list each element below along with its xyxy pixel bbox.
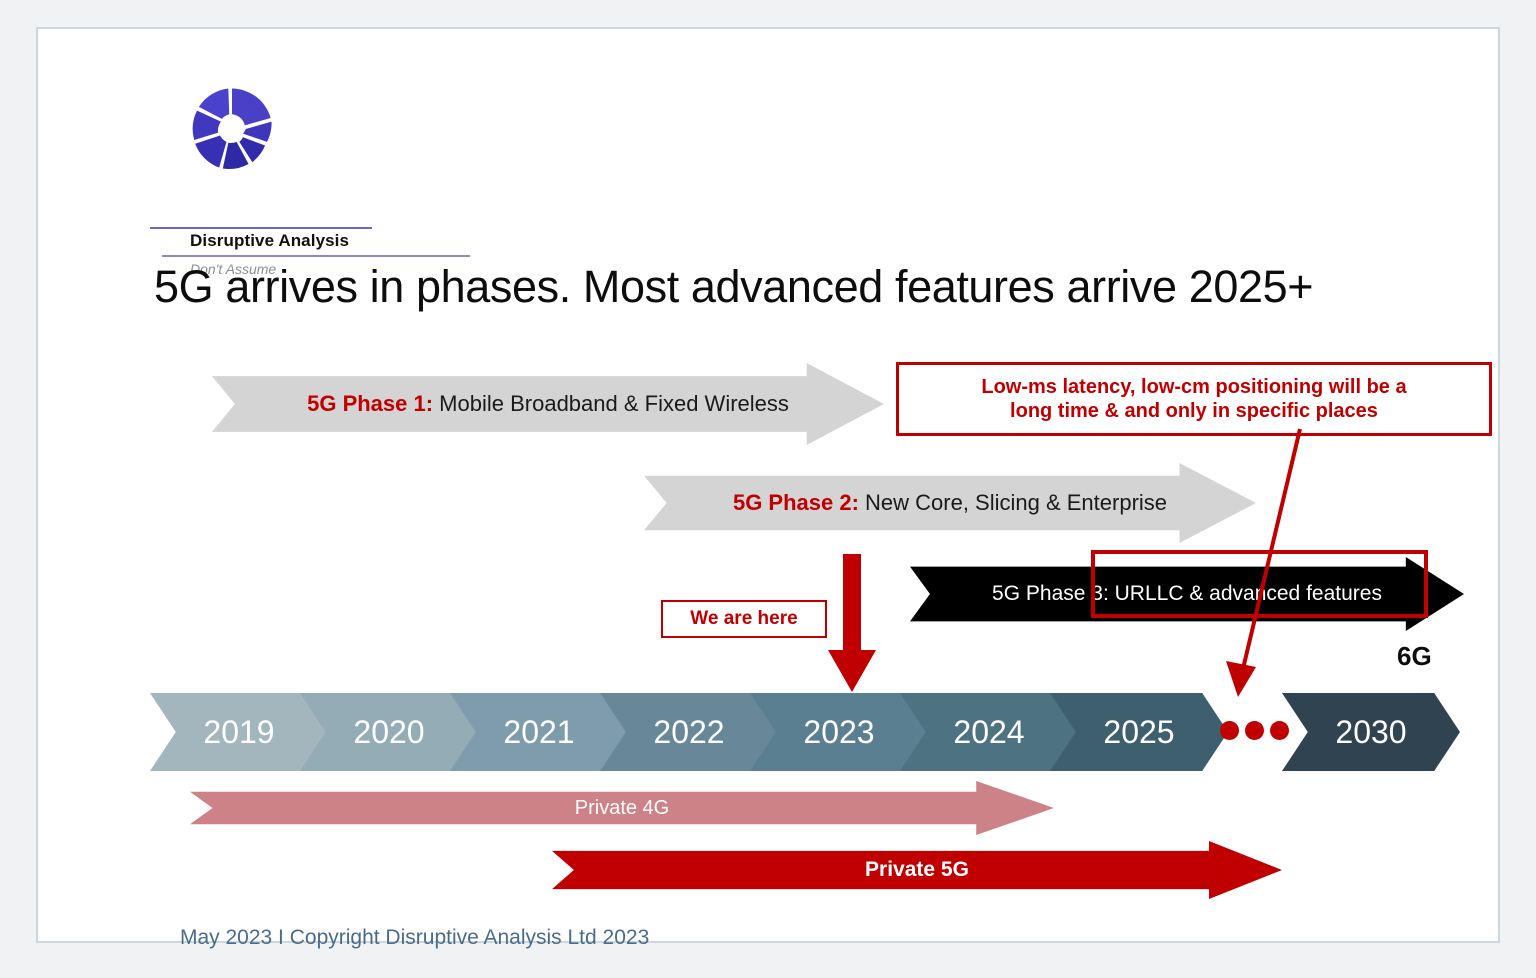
- phase-1-lead: 5G Phase 1:: [307, 391, 433, 416]
- segmented-donut-logo-icon: [186, 83, 278, 175]
- private-4g-arrow: Private 4G: [190, 781, 1054, 835]
- year-label: 2023: [803, 714, 874, 751]
- phase-2-lead: 5G Phase 2:: [733, 490, 859, 515]
- year-timeline: 2019 2020 2021 2022 2023 2024 2025 2030: [150, 693, 1460, 771]
- slide-frame: Disruptive Analysis Don't Assume 5G arri…: [36, 27, 1500, 943]
- phase-1-rest: Mobile Broadband & Fixed Wireless: [433, 391, 789, 416]
- year-label: 2025: [1103, 714, 1174, 751]
- logo-rule-bottom: [162, 255, 470, 257]
- year-label: 2019: [203, 714, 274, 751]
- timeline-year-2024: 2024: [900, 693, 1078, 771]
- brand-logo-block: Disruptive Analysis Don't Assume: [150, 83, 480, 243]
- slide-canvas: Disruptive Analysis Don't Assume 5G arri…: [0, 0, 1536, 978]
- phase-1-arrow: 5G Phase 1: Mobile Broadband & Fixed Wir…: [212, 363, 884, 445]
- callout-line-2: long time & and only in specific places: [981, 399, 1406, 423]
- ellipsis-dot: [1270, 721, 1289, 740]
- year-label: 2021: [503, 714, 574, 751]
- year-label: 2024: [953, 714, 1024, 751]
- timeline-ellipsis: [1220, 721, 1289, 740]
- timeline-year-2019: 2019: [150, 693, 328, 771]
- callout-pointer-arrow-icon: [1178, 425, 1358, 705]
- sixg-label: 6G: [1397, 641, 1432, 672]
- logo-rule-top: [150, 227, 372, 229]
- footer-copyright: May 2023 I Copyright Disruptive Analysis…: [180, 926, 649, 950]
- timeline-year-2023: 2023: [750, 693, 928, 771]
- ellipsis-dot: [1245, 721, 1264, 740]
- timeline-year-2020: 2020: [300, 693, 478, 771]
- we-are-here-down-arrow-icon: [826, 554, 878, 694]
- year-label: 2022: [653, 714, 724, 751]
- timeline-year-2022: 2022: [600, 693, 778, 771]
- year-label: 2020: [353, 714, 424, 751]
- page-title: 5G arrives in phases. Most advanced feat…: [154, 261, 1313, 313]
- year-label: 2030: [1335, 714, 1406, 751]
- ellipsis-dot: [1220, 721, 1239, 740]
- callout-line-1: Low-ms latency, low-cm positioning will …: [981, 375, 1406, 399]
- brand-name: Disruptive Analysis: [190, 231, 349, 251]
- private-5g-arrow: Private 5G: [552, 841, 1282, 899]
- phase-2-rest: New Core, Slicing & Enterprise: [859, 490, 1167, 515]
- private-4g-label: Private 4G: [575, 797, 669, 820]
- we-are-here-box: We are here: [661, 600, 827, 638]
- timeline-year-2021: 2021: [450, 693, 628, 771]
- phase-2-arrow: 5G Phase 2: New Core, Slicing & Enterpri…: [644, 463, 1256, 543]
- timeline-year-2030: 2030: [1282, 693, 1460, 771]
- timeline-year-2025: 2025: [1050, 693, 1228, 771]
- private-5g-label: Private 5G: [865, 858, 969, 882]
